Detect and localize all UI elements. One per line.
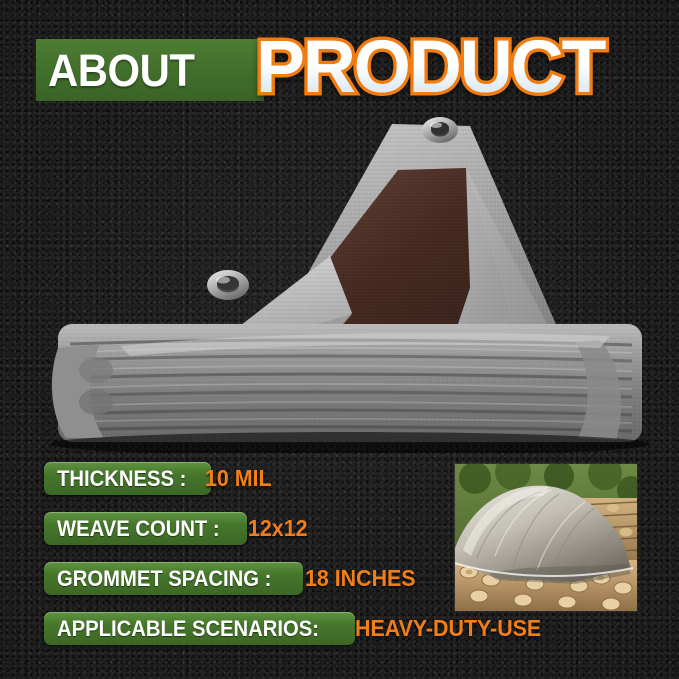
spec-label-pill-applicable-scenarios: APPLICABLE SCENARIOS:	[44, 612, 355, 645]
product-image-tarp	[0, 108, 679, 453]
spec-label-pill-grommet-spacing: GROMMET SPACING :	[44, 562, 303, 595]
product-infographic: ABOUT PRODUCT PRODUCT	[0, 0, 679, 679]
spec-label-grommet-spacing: GROMMET SPACING :	[57, 562, 271, 595]
header-banner: ABOUT PRODUCT PRODUCT	[0, 0, 679, 118]
header-title-product-outline: PRODUCT	[256, 24, 604, 110]
spec-value-grommet-spacing: 18 INCHES	[305, 562, 416, 595]
tarp-illustration	[0, 108, 679, 453]
spec-label-applicable-scenarios: APPLICABLE SCENARIOS:	[57, 612, 319, 645]
header-title-about: ABOUT	[48, 44, 247, 98]
spec-value-weave-count: 12x12	[248, 512, 307, 545]
spec-label-weave-count: WEAVE COUNT :	[57, 512, 220, 545]
usage-scene-illustration	[455, 464, 637, 611]
usage-scene-photo	[455, 464, 637, 611]
grommet-top	[422, 117, 458, 143]
spec-label-pill-thickness: THICKNESS :	[44, 462, 211, 495]
spec-label-thickness: THICKNESS :	[57, 462, 186, 495]
spec-value-thickness: 10 MIL	[205, 462, 272, 495]
spec-row-applicable-scenarios: APPLICABLE SCENARIOS: HEAVY-DUTY-USE	[44, 612, 644, 662]
grommet-corner	[207, 270, 249, 300]
spec-value-applicable-scenarios: HEAVY-DUTY-USE	[355, 612, 541, 645]
spec-label-pill-weave-count: WEAVE COUNT :	[44, 512, 247, 545]
